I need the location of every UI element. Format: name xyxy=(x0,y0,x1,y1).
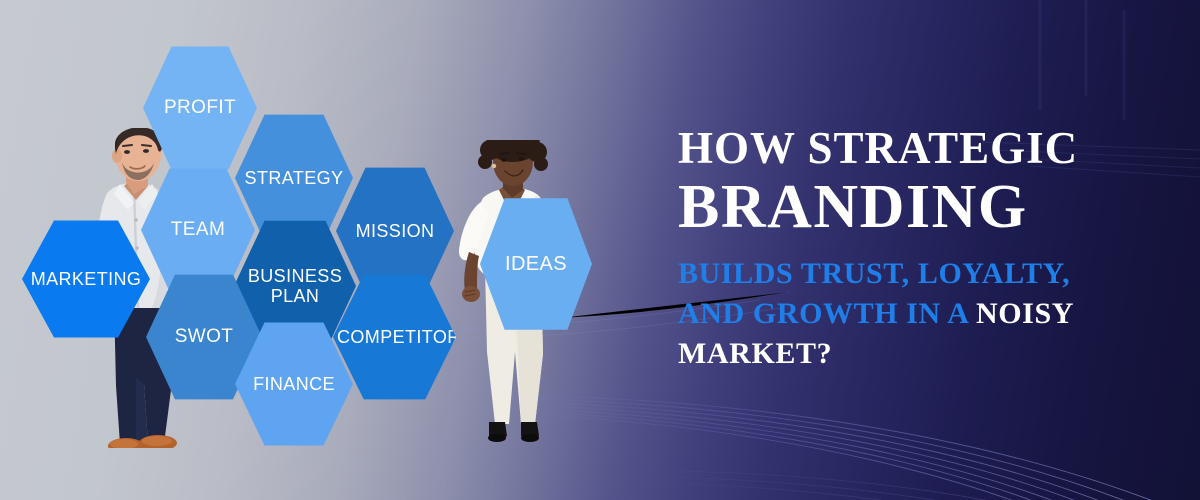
subtitle-line-2: AND GROWTH IN A NOISY xyxy=(678,294,1178,334)
banner-root: PROFIT STRATEGY TEAM MISSION BUSINESS PL… xyxy=(0,0,1200,500)
hexagon-strategy-label: STRATEGY xyxy=(239,168,349,188)
hexagon-team-label: TEAM xyxy=(145,219,251,240)
hexagon-finance-label: FINANCE xyxy=(239,374,349,394)
subtitle-line-2-highlight: NOISY xyxy=(976,297,1074,330)
hexagon-swot-label: SWOT xyxy=(150,326,258,347)
subtitle-line-3: MARKET? xyxy=(678,334,1178,374)
headline-block: HOW STRATEGIC BRANDING BUILDS TRUST, LOY… xyxy=(678,122,1178,374)
hexagon-mission-label: MISSION xyxy=(340,221,450,241)
hexagon-ideas-label: IDEAS xyxy=(484,253,588,275)
hexagon-cluster: PROFIT STRATEGY TEAM MISSION BUSINESS PL… xyxy=(0,0,660,500)
hexagon-profit-label: PROFIT xyxy=(147,97,253,118)
subtitle-line-2-accent: AND GROWTH IN A xyxy=(678,297,976,330)
hexagon-ideas[interactable]: IDEAS xyxy=(480,194,592,334)
hexagon-profit[interactable]: PROFIT xyxy=(143,44,257,172)
subtitle-line-1: BUILDS TRUST, LOYALTY, xyxy=(678,254,1178,294)
subtitle: BUILDS TRUST, LOYALTY, AND GROWTH IN A N… xyxy=(678,254,1178,374)
hexagon-competitor-label: COMPETITOR xyxy=(337,327,452,347)
hexagon-business-plan-label: BUSINESS PLAN xyxy=(238,266,352,306)
page-title-line-1: HOW STRATEGIC xyxy=(678,122,1178,174)
page-title-line-2: BRANDING xyxy=(678,174,1178,240)
hexagon-marketing[interactable]: MARKETING xyxy=(22,218,150,340)
hexagon-marketing-label: MARKETING xyxy=(26,269,146,289)
